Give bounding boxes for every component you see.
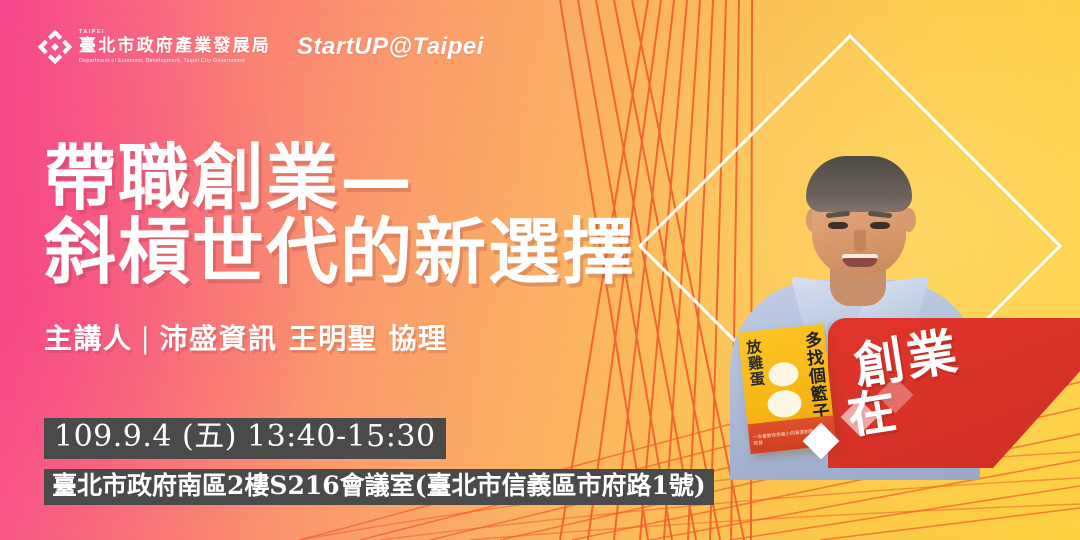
- event-datetime-chip: 109.9.4 (五) 13:40-15:30: [44, 418, 446, 459]
- department-logo-superscript: TAIPEI: [79, 30, 271, 36]
- book-title-left: 放雞蛋: [745, 339, 765, 388]
- portrait-eye-right: [870, 222, 890, 229]
- event-venue-chip: 臺北市政府南區2樓S216會議室(臺北市信義區市府路1號): [44, 469, 714, 505]
- department-logo: TAIPEI 臺北市政府產業發展局 Department of Economic…: [38, 30, 271, 64]
- department-logo-name-zh: 臺北市政府產業發展局: [79, 38, 271, 56]
- department-logo-name-en: Department of Economic Development, Taip…: [79, 59, 271, 64]
- promotional-banner: TAIPEI 臺北市政府產業發展局 Department of Economic…: [0, 0, 1080, 540]
- portrait-eye-left: [828, 222, 848, 229]
- speaker-photo-composition: 創業 在 放雞蛋 多找個籃子 一本書教你用最少的資源創造最大的效益: [660, 0, 1080, 540]
- speaker-divider: |: [133, 322, 160, 355]
- speaker-line: 主講人|沛盛資訊 王明聖 協理: [44, 317, 636, 357]
- startup-taipei-logo: StartUP@Taipei: [297, 33, 484, 61]
- title-line-1: 帶職創業—: [44, 140, 636, 216]
- event-info-block: 109.9.4 (五) 13:40-15:30 臺北市政府南區2樓S216會議室…: [44, 418, 714, 505]
- book-egg-shape-2: [766, 389, 803, 419]
- speaker-value: 沛盛資訊 王明聖 協理: [159, 322, 447, 355]
- header-logos: TAIPEI 臺北市政府產業發展局 Department of Economic…: [38, 30, 484, 64]
- title-line-2: 斜槓世代的新選擇: [44, 214, 636, 290]
- red-banner-text-line1: 創業: [851, 328, 963, 390]
- book-title-right: 多找個籃子: [801, 330, 827, 421]
- portrait-mouth: [842, 254, 878, 267]
- headline-block: 帶職創業— 斜槓世代的新選擇 主講人|沛盛資訊 王明聖 協理: [44, 140, 636, 357]
- portrait-hair: [806, 156, 912, 212]
- book-egg-shape-1: [767, 361, 799, 388]
- taipei-city-emblem-icon: [38, 30, 72, 64]
- speaker-label: 主講人: [44, 322, 133, 355]
- portrait-nose: [854, 230, 866, 252]
